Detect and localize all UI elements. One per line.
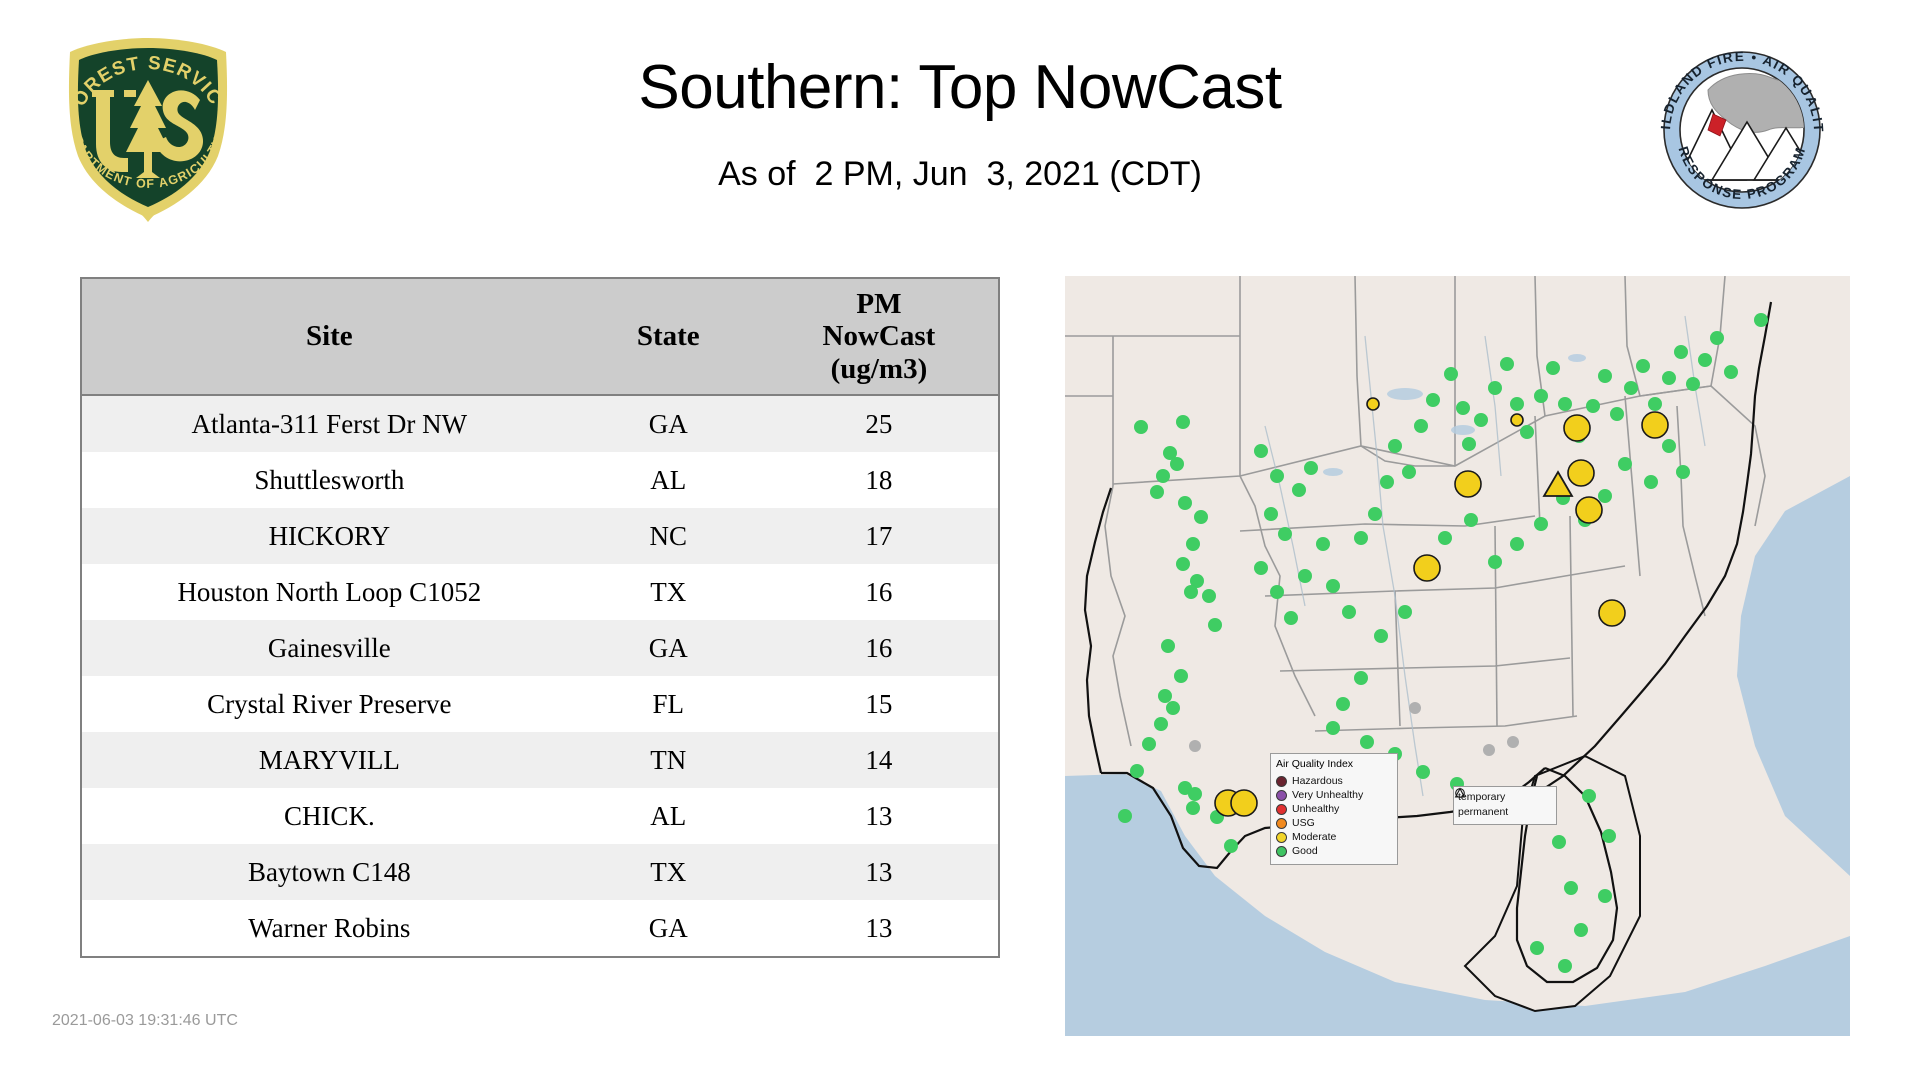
nowcast-table-container: Site State PM NowCast (ug/m3) Atlanta-31… bbox=[80, 277, 1000, 958]
aqi-legend-label: Unhealthy bbox=[1292, 803, 1339, 817]
aqi-legend-label: Good bbox=[1292, 845, 1318, 859]
pm-value-cell: 13 bbox=[760, 900, 998, 956]
site-cell: CHICK. bbox=[82, 788, 577, 844]
column-header-pm-line1: PM bbox=[760, 288, 998, 320]
site-cell: Houston North Loop C1052 bbox=[82, 564, 577, 620]
nowcast-table: Site State PM NowCast (ug/m3) Atlanta-31… bbox=[82, 279, 998, 956]
aqi-color-swatch-icon bbox=[1276, 776, 1287, 787]
aqi-legend-row: Good bbox=[1276, 845, 1392, 859]
pm-value-cell: 16 bbox=[760, 564, 998, 620]
aqi-legend-row: Very Unhealthy bbox=[1276, 789, 1392, 803]
aqi-color-swatch-icon bbox=[1276, 832, 1287, 843]
page-title: Southern: Top NowCast bbox=[0, 52, 1920, 123]
table-row[interactable]: MARYVILLTN14 bbox=[82, 732, 998, 788]
table-row[interactable]: HICKORYNC17 bbox=[82, 508, 998, 564]
aqi-legend-row: USG bbox=[1276, 817, 1392, 831]
generated-timestamp: 2021-06-03 19:31:46 UTC bbox=[52, 1012, 238, 1030]
column-header-pm-nowcast[interactable]: PM NowCast (ug/m3) bbox=[760, 279, 998, 395]
state-cell: AL bbox=[577, 788, 760, 844]
state-cell: AL bbox=[577, 452, 760, 508]
aqi-legend-row: Unhealthy bbox=[1276, 803, 1392, 817]
legend-row-temporary: temporary bbox=[1458, 790, 1552, 805]
state-cell: FL bbox=[577, 676, 760, 732]
table-row[interactable]: ShuttlesworthAL18 bbox=[82, 452, 998, 508]
pm-value-cell: 13 bbox=[760, 844, 998, 900]
site-cell: HICKORY bbox=[82, 508, 577, 564]
table-row[interactable]: CHICK.AL13 bbox=[82, 788, 998, 844]
state-cell: GA bbox=[577, 620, 760, 676]
aqi-color-swatch-icon bbox=[1276, 818, 1287, 829]
state-cell: GA bbox=[577, 395, 760, 452]
aqi-color-swatch-icon bbox=[1276, 790, 1287, 801]
state-cell: GA bbox=[577, 900, 760, 956]
site-cell: Atlanta-311 Ferst Dr NW bbox=[82, 395, 577, 452]
table-row[interactable]: Baytown C148TX13 bbox=[82, 844, 998, 900]
page-subtitle: As of 2 PM, Jun 3, 2021 (CDT) bbox=[0, 155, 1920, 194]
state-cell: TN bbox=[577, 732, 760, 788]
table-header: Site State PM NowCast (ug/m3) bbox=[82, 279, 998, 395]
aqi-legend-row: Moderate bbox=[1276, 831, 1392, 845]
air-quality-map[interactable]: Air Quality Index HazardousVery Unhealth… bbox=[1065, 276, 1850, 1036]
permanent-triangle-icon bbox=[1454, 787, 1466, 799]
legend-label-permanent: permanent bbox=[1458, 805, 1508, 819]
table-row[interactable]: Houston North Loop C1052TX16 bbox=[82, 564, 998, 620]
pm-value-cell: 16 bbox=[760, 620, 998, 676]
marker-shape-legend: temporary permanent bbox=[1453, 786, 1557, 825]
column-header-pm-line3: (ug/m3) bbox=[760, 353, 998, 385]
column-header-pm-line2: NowCast bbox=[760, 320, 998, 352]
aqi-legend-label: Hazardous bbox=[1292, 775, 1343, 789]
state-cell: NC bbox=[577, 508, 760, 564]
pm-value-cell: 25 bbox=[760, 395, 998, 452]
site-cell: Shuttlesworth bbox=[82, 452, 577, 508]
table-body: Atlanta-311 Ferst Dr NWGA25Shuttlesworth… bbox=[82, 395, 998, 956]
table-row[interactable]: GainesvilleGA16 bbox=[82, 620, 998, 676]
column-header-site[interactable]: Site bbox=[82, 279, 577, 395]
pm-value-cell: 13 bbox=[760, 788, 998, 844]
site-cell: Gainesville bbox=[82, 620, 577, 676]
aqi-legend-title: Air Quality Index bbox=[1276, 758, 1392, 772]
aqi-legend-label: USG bbox=[1292, 817, 1315, 831]
table-header-row: Site State PM NowCast (ug/m3) bbox=[82, 279, 998, 395]
site-cell: Warner Robins bbox=[82, 900, 577, 956]
aqi-legend: Air Quality Index HazardousVery Unhealth… bbox=[1270, 753, 1398, 865]
state-cell: TX bbox=[577, 844, 760, 900]
pm-value-cell: 17 bbox=[760, 508, 998, 564]
aqi-legend-row: Hazardous bbox=[1276, 775, 1392, 789]
aqi-legend-label: Moderate bbox=[1292, 831, 1336, 845]
state-cell: TX bbox=[577, 564, 760, 620]
slide-root: FOREST SERVICE DEPARTMENT OF AGRICULTURE bbox=[0, 0, 1920, 1080]
site-cell: Baytown C148 bbox=[82, 844, 577, 900]
aqi-color-swatch-icon bbox=[1276, 846, 1287, 857]
aqi-legend-label: Very Unhealthy bbox=[1292, 789, 1363, 803]
table-row[interactable]: Atlanta-311 Ferst Dr NWGA25 bbox=[82, 395, 998, 452]
table-row[interactable]: Crystal River PreserveFL15 bbox=[82, 676, 998, 732]
site-cell: MARYVILL bbox=[82, 732, 577, 788]
map-canvas[interactable] bbox=[1065, 276, 1850, 1036]
table-row[interactable]: Warner RobinsGA13 bbox=[82, 900, 998, 956]
aqi-color-swatch-icon bbox=[1276, 804, 1287, 815]
pm-value-cell: 14 bbox=[760, 732, 998, 788]
pm-value-cell: 18 bbox=[760, 452, 998, 508]
column-header-state[interactable]: State bbox=[577, 279, 760, 395]
legend-row-permanent: permanent bbox=[1458, 805, 1552, 820]
pm-value-cell: 15 bbox=[760, 676, 998, 732]
site-cell: Crystal River Preserve bbox=[82, 676, 577, 732]
